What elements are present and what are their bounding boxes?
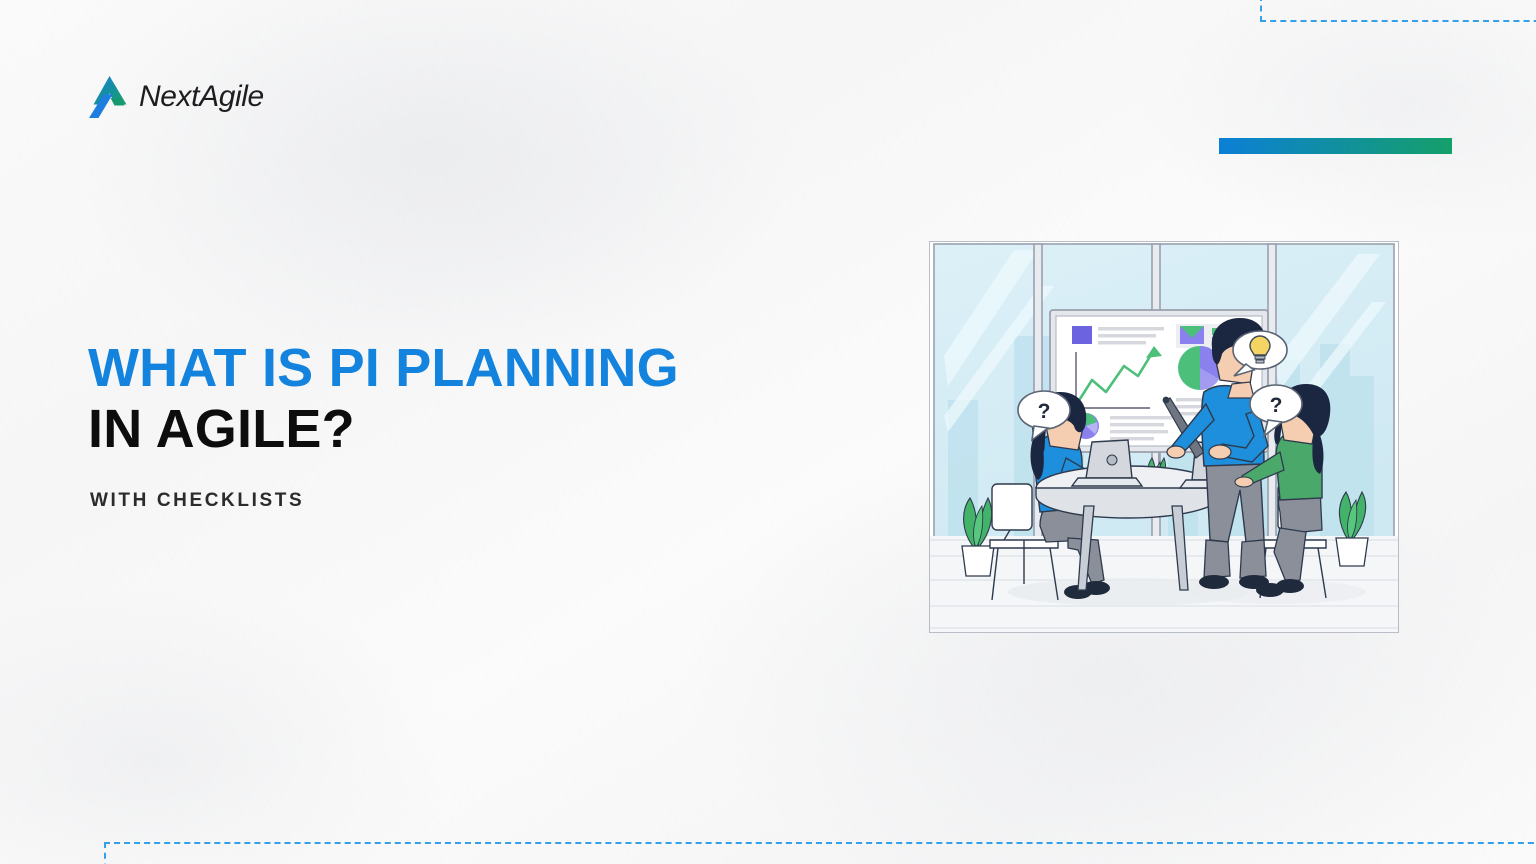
- page-subtitle: WITH CHECKLISTS: [90, 490, 848, 512]
- brand-wordmark: NextAgile: [139, 82, 264, 112]
- svg-text:?: ?: [1270, 394, 1283, 417]
- dashed-corner-bottom-left: [104, 842, 1536, 864]
- dashed-corner-top-right: [1260, 0, 1536, 22]
- svg-text:?: ?: [1038, 400, 1051, 423]
- pi-planning-meeting-illustration: ? ?: [928, 240, 1400, 634]
- brand-logo[interactable]: NextAgile: [86, 74, 264, 120]
- page-title-line-2: IN AGILE?: [88, 399, 848, 460]
- nextagile-a-mark-icon: [86, 74, 130, 120]
- gradient-accent-bar: [1219, 138, 1452, 154]
- headline-block: WHAT IS PI PLANNING IN AGILE? WITH CHECK…: [88, 338, 848, 512]
- slide-canvas: NextAgile WHAT IS PI PLANNING IN AGILE? …: [0, 0, 1536, 864]
- page-title-line-1: WHAT IS PI PLANNING: [88, 338, 848, 399]
